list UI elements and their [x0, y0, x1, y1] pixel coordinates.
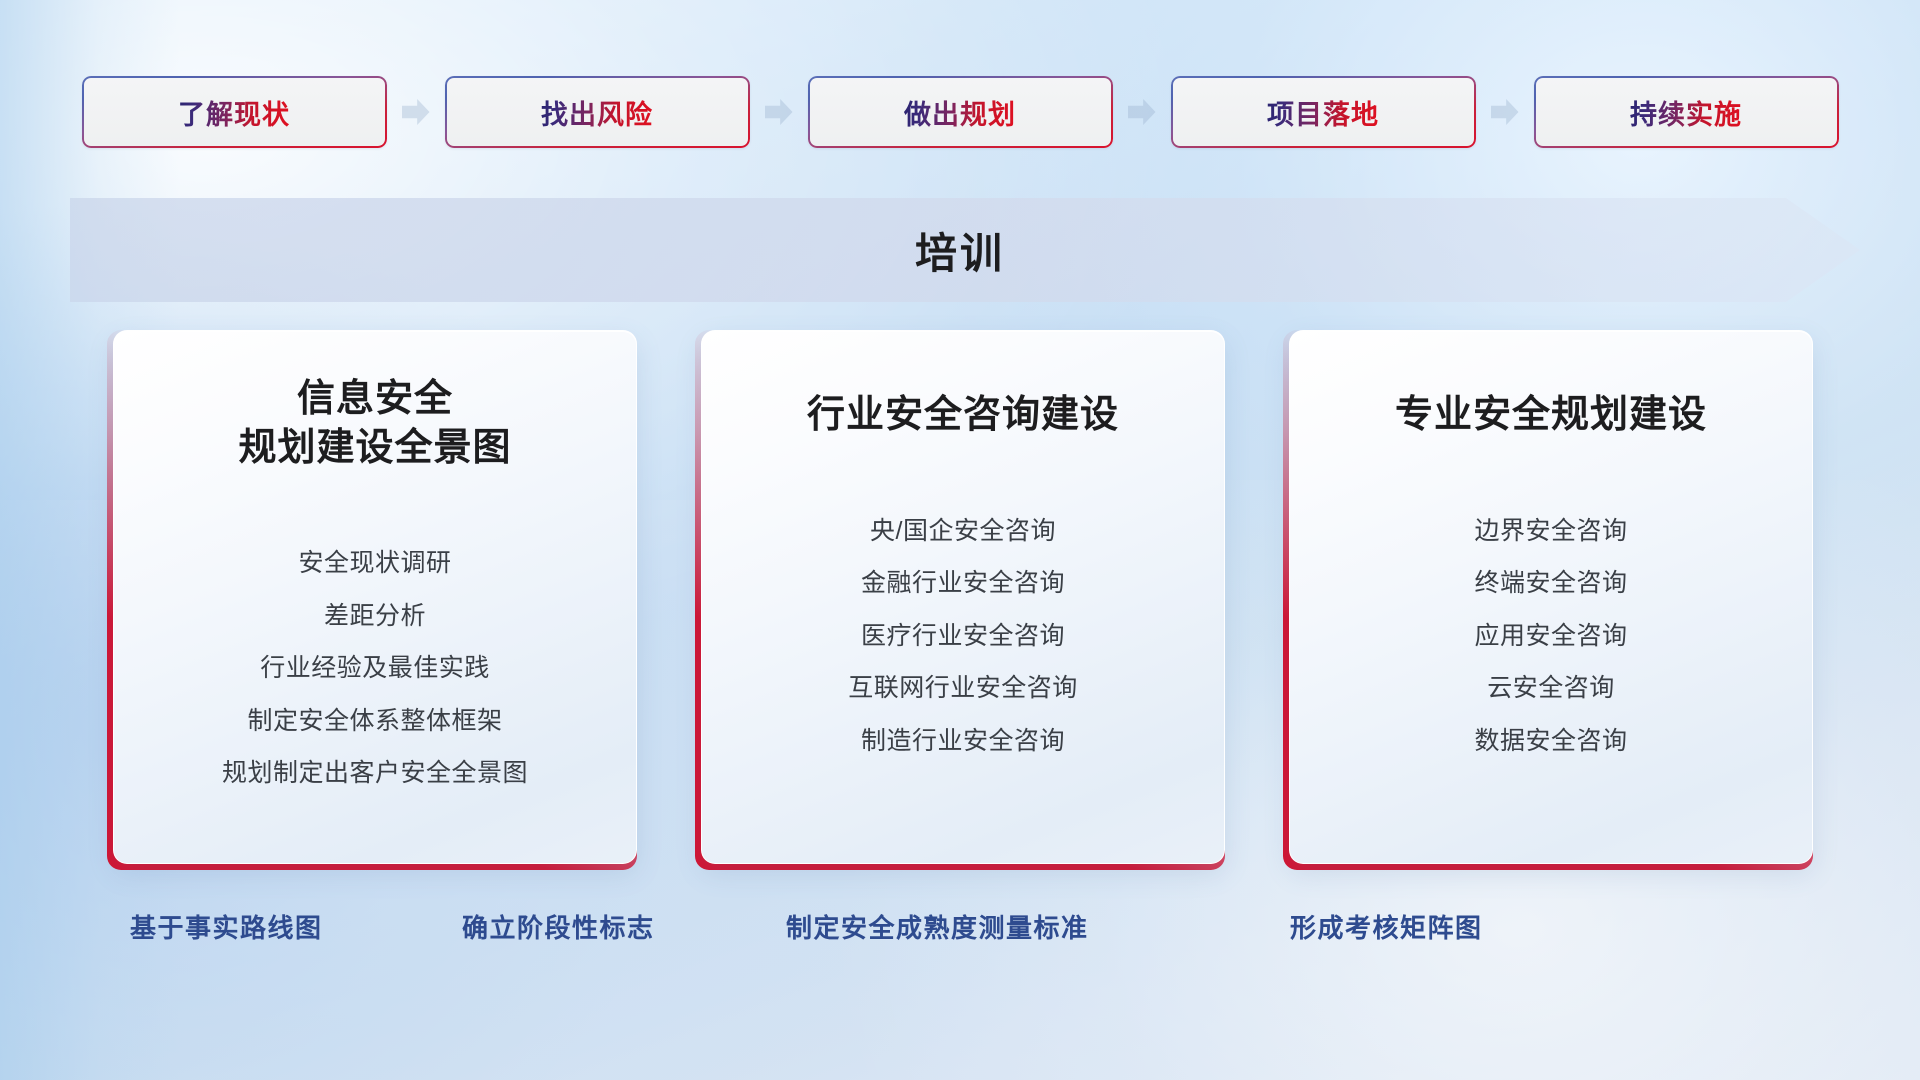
arrow-right-icon — [1128, 99, 1156, 125]
training-banner-title: 培训 — [915, 220, 1005, 281]
process-step-5[interactable]: 持续实施 — [1534, 76, 1839, 148]
list-item: 央/国企安全咨询 — [870, 510, 1056, 553]
list-item: 规划制定出客户安全全景图 — [222, 752, 528, 795]
card-1-body: 信息安全 规划建设全景图 安全现状调研 差距分析 行业经验及最佳实践 制定安全体… — [113, 330, 637, 864]
process-flow: 了解现状 找出风险 做出规划 项目落地 持续实施 — [0, 72, 1920, 152]
process-step-1-label: 了解现状 — [178, 93, 290, 132]
card-1-title-line-1: 信息安全 — [238, 375, 511, 424]
footer-label-4: 形成考核矩阵图 — [1290, 908, 1483, 945]
process-step-3[interactable]: 做出规划 — [808, 76, 1113, 148]
footer-label-2: 确立阶段性标志 — [462, 908, 655, 945]
card-1-list: 安全现状调研 差距分析 行业经验及最佳实践 制定安全体系整体框架 规划制定出客户… — [144, 542, 606, 795]
list-item: 差距分析 — [324, 595, 426, 638]
list-item: 终端安全咨询 — [1474, 562, 1627, 605]
list-item: 制定安全体系整体框架 — [247, 700, 502, 743]
card-1-title: 信息安全 规划建设全景图 — [238, 375, 511, 472]
card-2-divider — [736, 466, 1191, 480]
card-group: 信息安全 规划建设全景图 安全现状调研 差距分析 行业经验及最佳实践 制定安全体… — [0, 330, 1920, 870]
list-item: 互联网行业安全咨询 — [848, 667, 1078, 710]
card-2-body: 行业安全咨询建设 央/国企安全咨询 金融行业安全咨询 医疗行业安全咨询 互联网行… — [701, 330, 1225, 864]
arrow-right-icon — [402, 99, 430, 125]
card-2-title: 行业安全咨询建设 — [807, 375, 1119, 440]
list-item: 行业经验及最佳实践 — [260, 647, 490, 690]
footer-label-3: 制定安全成熟度测量标准 — [786, 908, 1089, 945]
card-3-divider — [1324, 466, 1779, 480]
card-3-title-line-1: 专业安全规划建设 — [1395, 391, 1707, 440]
process-step-4-label: 项目落地 — [1267, 93, 1379, 132]
list-item: 应用安全咨询 — [1474, 615, 1627, 658]
card-1[interactable]: 信息安全 规划建设全景图 安全现状调研 差距分析 行业经验及最佳实践 制定安全体… — [107, 330, 637, 870]
list-item: 安全现状调研 — [298, 542, 451, 585]
process-step-2-label: 找出风险 — [541, 93, 653, 132]
card-3-body: 专业安全规划建设 边界安全咨询 终端安全咨询 应用安全咨询 云安全咨询 数据安全… — [1289, 330, 1813, 864]
list-item: 金融行业安全咨询 — [861, 562, 1065, 605]
training-banner: 培训 — [0, 198, 1920, 302]
card-2[interactable]: 行业安全咨询建设 央/国企安全咨询 金融行业安全咨询 医疗行业安全咨询 互联网行… — [695, 330, 1225, 870]
footer-labels: 基于事实路线图 确立阶段性标志 制定安全成熟度测量标准 形成考核矩阵图 — [0, 908, 1920, 968]
list-item: 边界安全咨询 — [1474, 510, 1627, 553]
process-step-5-label: 持续实施 — [1630, 93, 1742, 132]
card-3-title: 专业安全规划建设 — [1395, 375, 1707, 440]
card-2-list: 央/国企安全咨询 金融行业安全咨询 医疗行业安全咨询 互联网行业安全咨询 制造行… — [732, 510, 1194, 763]
arrow-right-icon — [1491, 99, 1519, 125]
footer-label-1: 基于事实路线图 — [130, 908, 323, 945]
arrow-right-icon — [765, 99, 793, 125]
card-3-list: 边界安全咨询 终端安全咨询 应用安全咨询 云安全咨询 数据安全咨询 — [1320, 510, 1782, 763]
card-1-divider — [148, 498, 603, 512]
process-step-1[interactable]: 了解现状 — [82, 76, 387, 148]
card-1-title-line-2: 规划建设全景图 — [238, 424, 511, 473]
process-step-3-label: 做出规划 — [904, 93, 1016, 132]
card-2-title-line-1: 行业安全咨询建设 — [807, 391, 1119, 440]
list-item: 医疗行业安全咨询 — [861, 615, 1065, 658]
process-step-2[interactable]: 找出风险 — [445, 76, 750, 148]
card-3[interactable]: 专业安全规划建设 边界安全咨询 终端安全咨询 应用安全咨询 云安全咨询 数据安全… — [1283, 330, 1813, 870]
list-item: 数据安全咨询 — [1474, 720, 1627, 763]
process-step-4[interactable]: 项目落地 — [1171, 76, 1476, 148]
list-item: 制造行业安全咨询 — [861, 720, 1065, 763]
list-item: 云安全咨询 — [1487, 667, 1615, 710]
